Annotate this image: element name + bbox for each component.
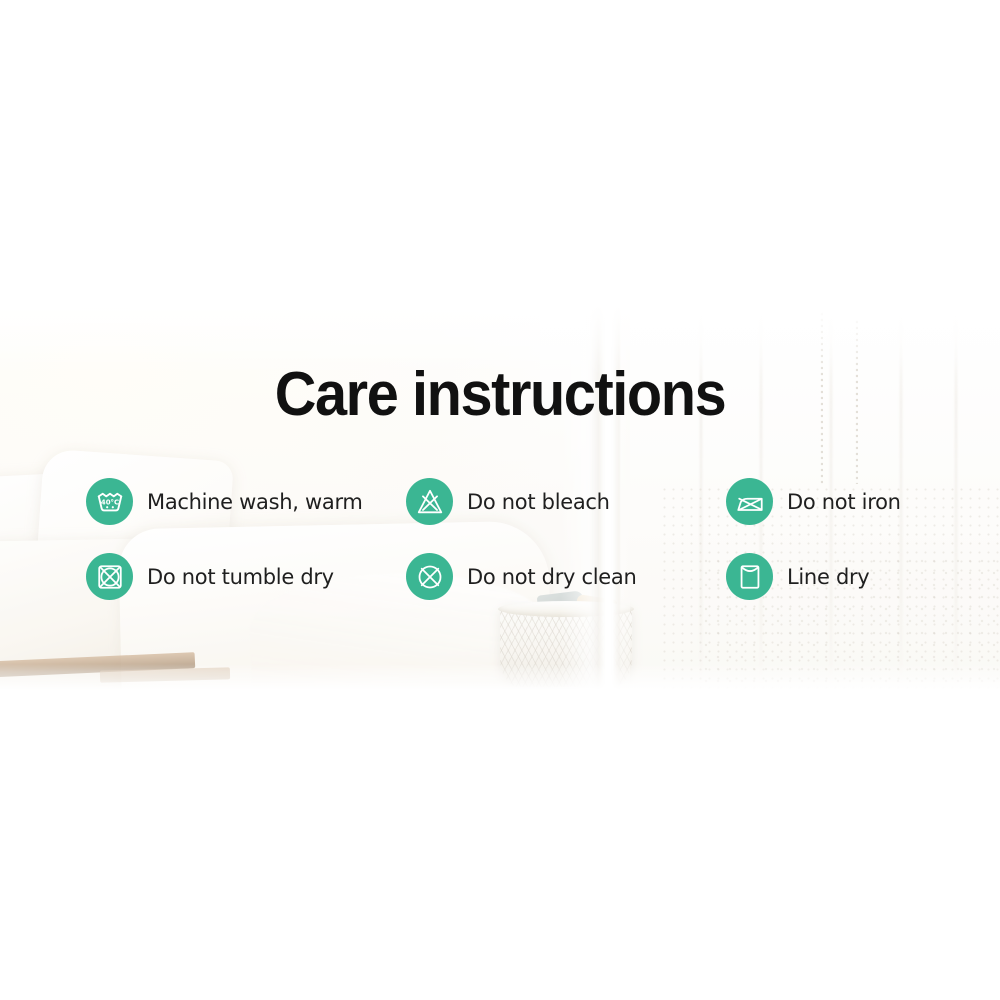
care-item-label: Machine wash, warm <box>147 490 363 514</box>
do-not-bleach-icon <box>406 478 453 525</box>
do-not-tumble-dry-icon <box>86 553 133 600</box>
photo-bottom-fade <box>0 664 1000 690</box>
care-item-line-dry: Line dry <box>726 553 926 600</box>
care-item-do-not-tumble-dry: Do not tumble dry <box>86 553 406 600</box>
care-item-label: Do not dry clean <box>467 565 637 589</box>
care-item-label: Do not bleach <box>467 490 610 514</box>
care-item-label: Line dry <box>787 565 869 589</box>
care-item-do-not-dry-clean: Do not dry clean <box>406 553 726 600</box>
care-item-do-not-iron: Do not iron <box>726 478 926 525</box>
svg-text:40°C: 40°C <box>100 498 118 506</box>
care-item-do-not-bleach: Do not bleach <box>406 478 726 525</box>
do-not-iron-icon <box>726 478 773 525</box>
page-title: Care instructions <box>35 362 965 428</box>
care-item-label: Do not tumble dry <box>147 565 334 589</box>
care-instructions-banner: Care instructions 40°C Machine wash, war… <box>0 0 1000 1000</box>
machine-wash-40c-icon: 40°C <box>86 478 133 525</box>
care-symbol-row: 40°C Machine wash, warm Do not bleach <box>86 478 926 553</box>
line-dry-icon <box>726 553 773 600</box>
care-symbol-row: Do not tumble dry Do not dry clean <box>86 553 926 628</box>
care-symbol-grid: 40°C Machine wash, warm Do not bleach <box>86 478 926 628</box>
do-not-dry-clean-icon <box>406 553 453 600</box>
care-item-label: Do not iron <box>787 490 901 514</box>
care-item-machine-wash: 40°C Machine wash, warm <box>86 478 406 525</box>
